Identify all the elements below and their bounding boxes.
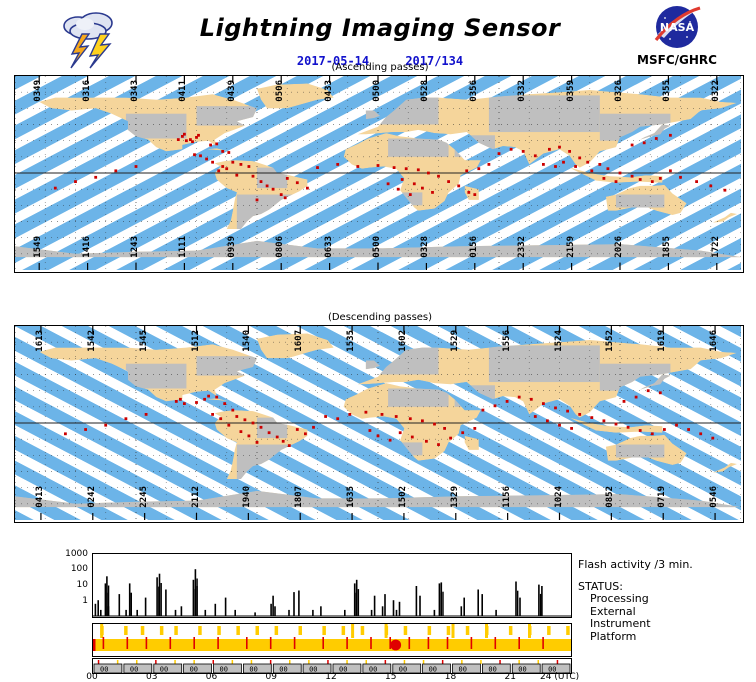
orbit-time-label: 0322 <box>712 80 721 102</box>
orbit-time-label: 1607 <box>295 330 304 352</box>
orbit-time-label: 1329 <box>451 486 460 508</box>
x-tick-12: 12 <box>321 672 341 682</box>
orbit-time-label: 1111 <box>179 236 188 258</box>
orbit-time-label: 1613 <box>36 330 45 352</box>
orbit-time-label: 1940 <box>243 486 252 508</box>
y-tick-100: 100 <box>46 564 88 574</box>
orbit-time-label: 0242 <box>88 486 97 508</box>
orbit-time-label: 0506 <box>276 80 285 102</box>
svg-text:00: 00 <box>249 666 257 674</box>
status-bars-graphic <box>93 624 571 656</box>
svg-text:NASA: NASA <box>660 21 695 34</box>
orbit-time-label: 0852 <box>606 486 615 508</box>
orbit-time-label: 2245 <box>140 486 149 508</box>
flash-activity-plot[interactable] <box>92 553 572 618</box>
orbit-time-label: 0528 <box>421 80 430 102</box>
orbit-time-label: 0349 <box>34 80 43 102</box>
svg-text:00: 00 <box>130 666 138 674</box>
legend-status-processing: Processing <box>578 593 756 606</box>
orbit-time-label: 0359 <box>567 80 576 102</box>
status-bars-plot[interactable] <box>92 623 572 657</box>
x-tick-18: 18 <box>441 672 461 682</box>
x-tick-03: 03 <box>142 672 162 682</box>
nasa-logo-block: NASA MSFC/GHRC <box>622 4 732 68</box>
orbit-time-label: 0500 <box>373 236 382 258</box>
orbit-time-label: 1540 <box>243 330 252 352</box>
flash-activity-series <box>93 554 571 617</box>
orbit-time-label: 1619 <box>658 330 667 352</box>
x-tick-06: 06 <box>202 672 222 682</box>
orbit-time-label: 0316 <box>83 80 92 102</box>
orbit-time-label: 0413 <box>36 486 45 508</box>
page-title: Lightning Imaging Sensor <box>180 14 580 42</box>
orbit-time-label: 1529 <box>451 330 460 352</box>
descending-map-canvas <box>15 326 743 522</box>
lis-daily-summary-page: Lightning Imaging Sensor 2017-05-14 2017… <box>0 0 756 680</box>
descending-map-graphic <box>15 326 741 520</box>
orbit-time-label: 1602 <box>399 330 408 352</box>
orbit-time-label: 0355 <box>663 80 672 102</box>
descending-pass-map[interactable] <box>14 325 744 523</box>
y-tick-1: 1 <box>46 596 88 606</box>
thunderstorm-icon <box>52 6 128 70</box>
orbit-time-label: 0439 <box>228 80 237 102</box>
svg-text:00: 00 <box>369 666 377 674</box>
orbit-time-label: 1024 <box>555 486 564 508</box>
orbit-time-label: 1545 <box>140 330 149 352</box>
orbit-time-label: 1722 <box>712 236 721 258</box>
flash-activity-panel: 1000 100 10 1 00000000000000000000000000… <box>0 548 756 680</box>
x-tick-00: 00 <box>82 672 102 682</box>
orbit-time-label: 2112 <box>192 486 201 508</box>
orbit-time-label: 1542 <box>88 330 97 352</box>
orbit-time-label: 0156 <box>470 236 479 258</box>
orbit-time-label: 2026 <box>615 236 624 258</box>
y-tick-1000: 1000 <box>46 549 88 559</box>
orbit-time-label: 0328 <box>421 236 430 258</box>
orbit-time-label: 2159 <box>567 236 576 258</box>
x-axis-units-label: 24 (UTC) <box>540 672 630 682</box>
orbit-time-label: 1635 <box>347 486 356 508</box>
orbit-time-label: 1502 <box>399 486 408 508</box>
orbit-time-label: 1556 <box>503 330 512 352</box>
orbit-time-label: 1807 <box>295 486 304 508</box>
orbit-time-label: 0343 <box>131 80 140 102</box>
svg-text:00: 00 <box>309 666 317 674</box>
orbit-time-label: 2332 <box>518 236 527 258</box>
orbit-time-label: 0356 <box>470 80 479 102</box>
x-tick-09: 09 <box>261 672 281 682</box>
orbit-time-label: 0939 <box>228 236 237 258</box>
orbit-time-label: 0806 <box>276 236 285 258</box>
orbit-time-label: 1549 <box>34 236 43 258</box>
orbit-time-label: 1535 <box>347 330 356 352</box>
orbit-time-label: 0500 <box>373 80 382 102</box>
nasa-meatball-logo: NASA <box>650 4 704 52</box>
svg-text:00: 00 <box>429 666 437 674</box>
orbit-time-label: 0326 <box>615 80 624 102</box>
orbit-time-label: 0433 <box>325 80 334 102</box>
orbit-time-label: 1512 <box>192 330 201 352</box>
orbit-time-label: 1646 <box>710 330 719 352</box>
orbit-time-label: 1855 <box>663 236 672 258</box>
legend-flash-activity: Flash activity /3 min. <box>578 558 756 571</box>
orbit-time-label: 1524 <box>555 330 564 352</box>
chart-legend: Flash activity /3 min. STATUS: Processin… <box>578 558 756 643</box>
x-tick-15: 15 <box>381 672 401 682</box>
orbit-time-label: 1552 <box>606 330 615 352</box>
orbit-time-label: 0633 <box>325 236 334 258</box>
orbit-time-label: 0546 <box>710 486 719 508</box>
legend-status-instrument: Instrument <box>578 618 756 631</box>
orbit-time-label: 1156 <box>503 486 512 508</box>
y-tick-10: 10 <box>46 580 88 590</box>
ascending-caption: (Ascending passes) <box>180 62 580 73</box>
legend-status-platform: Platform <box>578 631 756 644</box>
orbit-time-label: 1243 <box>131 236 140 258</box>
orbit-time-label: 0411 <box>179 80 188 102</box>
orbit-time-label: 0332 <box>518 80 527 102</box>
descending-caption: (Descending passes) <box>180 312 580 323</box>
svg-text:00: 00 <box>488 666 496 674</box>
orbit-time-label: 0719 <box>658 486 667 508</box>
x-tick-21: 21 <box>500 672 520 682</box>
orbit-time-label: 1416 <box>83 236 92 258</box>
agency-center-label: MSFC/GHRC <box>622 53 732 67</box>
svg-text:00: 00 <box>190 666 198 674</box>
